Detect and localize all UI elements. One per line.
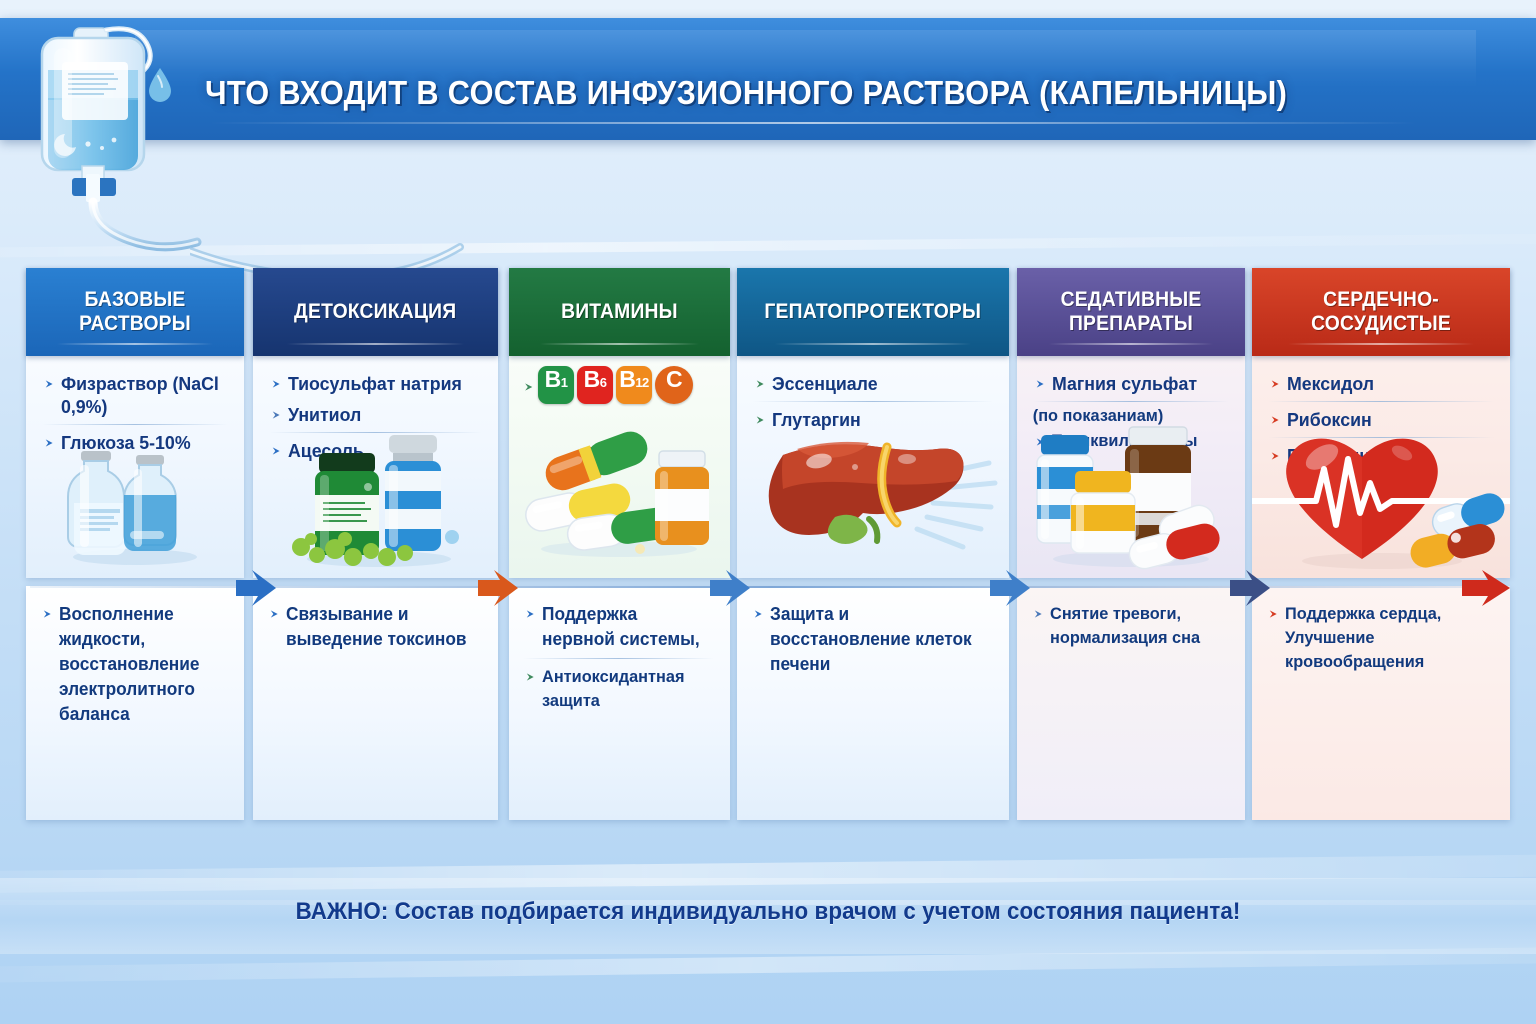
title-bar: ЧТО ВХОДИТ В СОСТАВ ИНФУЗИОННОГО РАСТВОР… [0, 18, 1536, 140]
card-top: СЕДАТИВНЫЕ ПРЕПАРАТЫ Магния сульфат (по … [1017, 268, 1245, 578]
vitamin-badge-b12: B12 [616, 366, 652, 404]
column-header-hepatoprotectors: ГЕПАТОПРОТЕКТОРЫ [737, 268, 1009, 356]
column-hepatoprotectors[interactable]: ГЕПАТОПРОТЕКТОРЫ Эссенциале Глутаргин [737, 268, 1009, 820]
connector-arrow-3 [710, 568, 762, 608]
card-bottom: Поддержка нервной системы, Антиоксидантн… [509, 586, 730, 820]
arrow-right-icon [36, 605, 53, 623]
list-item[interactable]: Мексидол [1262, 368, 1490, 399]
arrow-right-icon [1029, 375, 1046, 393]
column-header-detox: ДЕТОКСИКАЦИЯ [253, 268, 498, 356]
divider [1033, 401, 1229, 402]
benefit-block: Защита и восстановление клеток печени [737, 586, 1009, 677]
vitamin-badge-c: C [655, 366, 693, 404]
arrow-right-icon [519, 668, 536, 686]
card-bottom: Восполнение жидкости, восстановление эле… [26, 586, 244, 820]
column-header-vitamins: ВИТАМИНЫ [509, 268, 730, 356]
benefit-text: Антиоксидантная защита [519, 665, 710, 713]
card-top: ДЕТОКСИКАЦИЯ Тиосульфат натрия Унитиол А… [253, 268, 498, 578]
card-bottom: Связывание и выведение токсинов [253, 586, 498, 820]
card-top: ВИТАМИНЫ B1 B6 B12 C [509, 268, 730, 578]
arrow-right-icon [265, 375, 282, 393]
pill-bottles-and-capsule-icon [1017, 409, 1245, 574]
infographic-canvas: ЧТО ВХОДИТ В СОСТАВ ИНФУЗИОННОГО РАСТВОР… [0, 0, 1536, 1024]
card-bottom: Поддержка сердца, Улучшение кровообращен… [1252, 586, 1510, 820]
column-sedatives[interactable]: СЕДАТИВНЫЕ ПРЕПАРАТЫ Магния сульфат (по … [1017, 268, 1245, 820]
divider [753, 401, 993, 402]
connector-arrow-4 [990, 568, 1042, 608]
benefit-block: Поддержка нервной системы, Антиоксидантн… [509, 586, 730, 713]
card-bottom: Снятие тревоги, нормализация сна [1017, 586, 1245, 820]
footer-banner: ВАЖНО: Состав подбирается индивидуально … [0, 878, 1536, 954]
page-title: ЧТО ВХОДИТ В СОСТАВ ИНФУЗИОННОГО РАСТВОР… [205, 74, 1377, 112]
column-header-cardiovascular: СЕРДЕЧНО-СОСУДИСТЫЕ [1252, 268, 1510, 356]
divider [523, 658, 714, 659]
card-top: БАЗОВЫЕ РАСТВОРЫ Физраствор (NaCl 0,9%) … [26, 268, 244, 578]
column-header-sedatives: СЕДАТИВНЫЕ ПРЕПАРАТЫ [1017, 268, 1245, 356]
card-top: ГЕПАТОПРОТЕКТОРЫ Эссенциале Глутаргин [737, 268, 1009, 578]
list-item[interactable]: Магния сульфат [1027, 368, 1227, 399]
divider [1268, 401, 1494, 402]
arrow-right-icon [749, 375, 766, 393]
iv-drip-bag-icon [18, 6, 218, 266]
heart-with-pulse-icon [1252, 409, 1510, 574]
list-item[interactable]: Тиосульфат натрия [263, 368, 479, 399]
liver-icon [737, 409, 1009, 574]
benefit-block: Связывание и выведение токсинов [253, 586, 498, 652]
arrow-right-icon [517, 378, 535, 396]
connector-arrow-1 [236, 568, 288, 608]
benefit-text: Восполнение жидкости, восстановление эле… [36, 602, 224, 727]
benefit-text: Связывание и выведение токсинов [263, 602, 477, 652]
column-detox[interactable]: ДЕТОКСИКАЦИЯ Тиосульфат натрия Унитиол А… [253, 268, 498, 820]
benefit-text: Поддержка нервной системы, [519, 602, 710, 652]
benefit-block: Восполнение жидкости, восстановление эле… [26, 586, 244, 727]
card-bottom: Защита и восстановление клеток печени [737, 586, 1009, 820]
column-vitamins[interactable]: ВИТАМИНЫ B1 B6 B12 C [509, 268, 730, 820]
vitamin-badge-row: B1 B6 B12 C [509, 356, 730, 404]
arrow-right-icon [1264, 375, 1281, 393]
benefit-text: Снятие тревоги, нормализация сна [1027, 602, 1225, 650]
benefit-text: Поддержка сердца, Улучшение кровообращен… [1262, 602, 1489, 674]
benefit-block: Снятие тревоги, нормализация сна [1017, 586, 1245, 650]
column-header-base-solutions: БАЗОВЫЕ РАСТВОРЫ [26, 268, 244, 356]
arrow-right-icon [38, 375, 55, 393]
footer-note: ВАЖНО: Состав подбирается индивидуально … [54, 898, 1482, 926]
capsules-and-bottle-icon [509, 409, 730, 574]
column-base-solutions[interactable]: БАЗОВЫЕ РАСТВОРЫ Физраствор (NaCl 0,9%) … [26, 268, 244, 820]
glass-vials-icon [26, 409, 244, 574]
category-columns: БАЗОВЫЕ РАСТВОРЫ Физраствор (NaCl 0,9%) … [0, 268, 1536, 820]
benefit-text: Защита и восстановление клеток печени [747, 602, 987, 677]
vitamin-badge-b6: B6 [577, 366, 613, 404]
card-top: СЕРДЕЧНО-СОСУДИСТЫЕ Мексидол Рибоксин [1252, 268, 1510, 578]
list-item[interactable]: Эссенциале [747, 368, 989, 399]
connector-arrow-6 [1462, 568, 1522, 608]
vitamin-badge-b1: B1 [538, 366, 574, 404]
connector-arrow-5 [1230, 568, 1282, 608]
connector-arrow-2 [478, 568, 530, 608]
green-blue-bottles-icon [253, 409, 498, 574]
column-cardiovascular[interactable]: СЕРДЕЧНО-СОСУДИСТЫЕ Мексидол Рибоксин [1252, 268, 1510, 820]
